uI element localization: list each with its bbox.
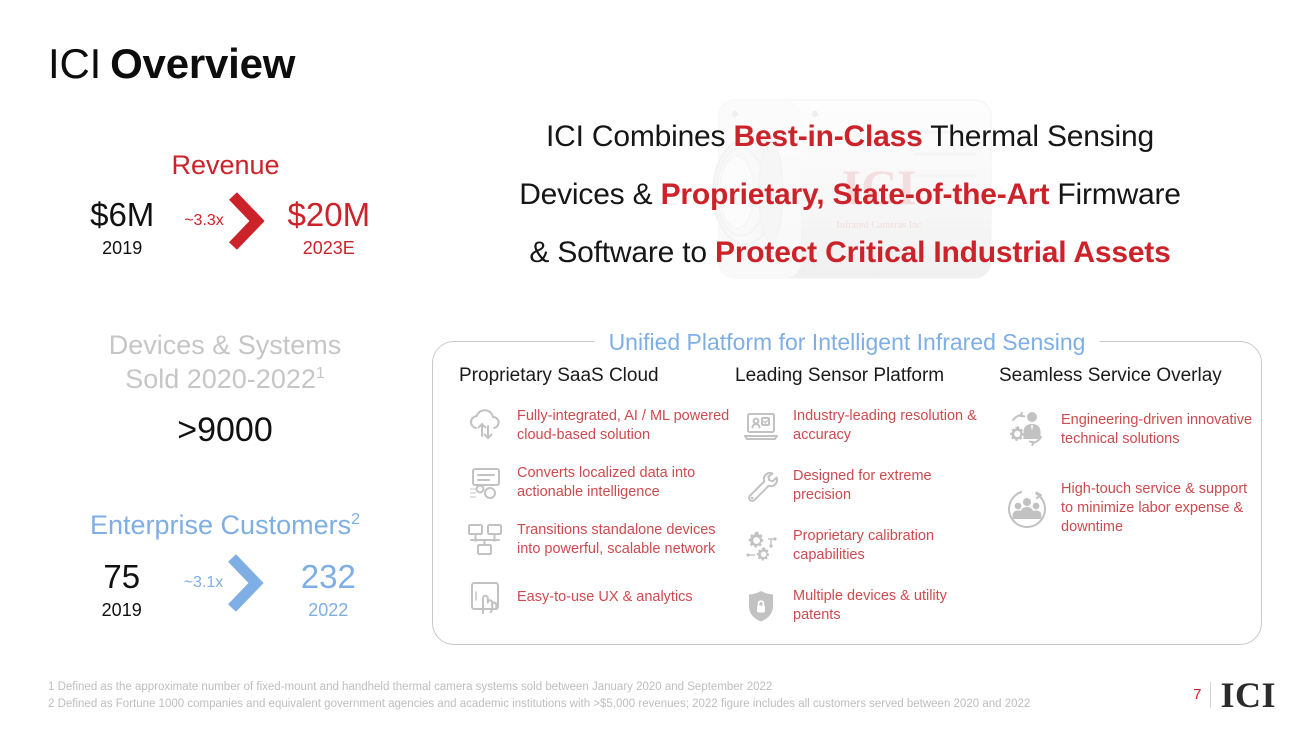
stat-row-customers: 75 2019 ~3.1x 232 2022 <box>40 552 410 628</box>
people-group-icon <box>999 481 1055 537</box>
feature-item: Designed for extreme precision <box>735 462 983 510</box>
slide-canvas: ICIOverview Revenue $6M 2019 ~3.3x $20M … <box>0 0 1300 731</box>
stat-heading-customers: Enterprise Customers2 <box>40 508 410 542</box>
platform-panel: Unified Platform for Intelligent Infrare… <box>432 341 1262 645</box>
stat-block-revenue: Revenue $6M 2019 ~3.3x $20M 2023E <box>48 148 403 266</box>
headline-line-1-pre: ICI Combines <box>546 120 733 153</box>
page-mark: 7 ICI <box>1193 677 1276 713</box>
cloud-sync-icon <box>459 402 511 450</box>
stat-from-customers: 75 2019 <box>66 557 178 623</box>
stat-to-year-customers: 2022 <box>272 597 384 623</box>
chevron-right-icon <box>225 190 267 252</box>
stat-block-customers: Enterprise Customers2 75 2019 ~3.1x 232 … <box>40 508 410 628</box>
feature-text: High-touch service & support to minimize… <box>1055 480 1263 537</box>
headline-area: ICI Infrared Cameras Inc ICI Combines Be… <box>455 100 1245 290</box>
stat-to-customers: 232 2022 <box>272 557 384 623</box>
feature-item: Engineering-driven innovative technical … <box>999 402 1263 458</box>
headline-line-2: Devices & Proprietary, State-of-the-Art … <box>455 166 1245 224</box>
feature-item: High-touch service & support to minimize… <box>999 480 1263 537</box>
feature-text: Industry-leading resolution & accuracy <box>787 407 983 445</box>
headline-line-1-highlight: Best-in-Class <box>733 120 922 153</box>
feature-text: Converts localized data into actionable … <box>511 464 733 502</box>
headline-line-2-highlight: Proprietary, State-of-the-Art <box>661 178 1050 211</box>
panel-column-sensor-platform: Leading Sensor Platform Industry-leading… <box>733 364 983 642</box>
stat-to-value-customers: 232 <box>272 557 384 597</box>
footnote-marker-1: 1 <box>316 365 325 382</box>
laptop-checklist-icon <box>735 402 787 450</box>
stat-heading-devices-line2-text: Sold 2020-2022 <box>125 364 316 394</box>
feature-text: Proprietary calibration capabilities <box>787 527 983 565</box>
stat-multiplier-revenue: ~3.3x <box>184 212 224 230</box>
headline-line-2-pre: Devices & <box>519 178 660 211</box>
footnote-marker-2: 2 <box>351 511 360 528</box>
wrench-icon <box>735 462 787 510</box>
headline-line-3-pre: & Software to <box>529 236 715 269</box>
panel-title: Unified Platform for Intelligent Infrare… <box>595 328 1100 356</box>
headline-line-3-highlight: Protect Critical Industrial Assets <box>715 236 1171 269</box>
feature-text: Multiple devices & utility patents <box>787 587 983 625</box>
network-devices-icon <box>459 516 511 564</box>
feature-text: Transitions standalone devices into powe… <box>511 521 733 559</box>
stat-to-year-revenue: 2023E <box>273 235 385 261</box>
footnote-1: 1 Defined as the approximate number of f… <box>48 679 1030 696</box>
headline-text: ICI Combines Best-in-Class Thermal Sensi… <box>455 108 1245 282</box>
column-heading: Seamless Service Overlay <box>999 364 1263 388</box>
stat-from-value-revenue: $6M <box>66 195 178 235</box>
feature-text: Easy-to-use UX & analytics <box>511 588 693 607</box>
feature-item: Transitions standalone devices into powe… <box>459 516 733 564</box>
shield-lock-icon <box>735 582 787 630</box>
headline-line-2-post: Firmware <box>1049 178 1181 211</box>
feature-text: Fully-integrated, AI / ML powered cloud-… <box>511 407 733 445</box>
feature-item: Easy-to-use UX & analytics <box>459 573 733 621</box>
stat-heading-devices-line1: Devices & Systems <box>40 328 410 362</box>
headline-line-1-post: Thermal Sensing <box>923 120 1154 153</box>
feature-text: Engineering-driven innovative technical … <box>1055 411 1263 449</box>
column-heading: Leading Sensor Platform <box>735 364 983 388</box>
panel-columns: Proprietary SaaS Cloud Fully-integrated,… <box>433 364 1263 642</box>
data-processing-icon <box>459 459 511 507</box>
stat-multiplier-customers: ~3.1x <box>184 574 224 592</box>
feature-item: Proprietary calibration capabilities <box>735 522 983 570</box>
stat-growth-revenue: ~3.3x <box>184 190 267 266</box>
feature-text: Designed for extreme precision <box>787 467 983 505</box>
stat-to-value-revenue: $20M <box>273 195 385 235</box>
headline-line-1: ICI Combines Best-in-Class Thermal Sensi… <box>455 108 1245 166</box>
page-number: 7 <box>1193 685 1201 705</box>
panel-column-service-overlay: Seamless Service Overlay <box>983 364 1263 642</box>
stat-from-revenue: $6M 2019 <box>66 195 178 261</box>
panel-column-saas-cloud: Proprietary SaaS Cloud Fully-integrated,… <box>433 364 733 642</box>
page-title: ICIOverview <box>48 38 295 90</box>
column-heading: Proprietary SaaS Cloud <box>459 364 733 388</box>
stat-to-revenue: $20M 2023E <box>273 195 385 261</box>
stat-heading-devices-line2: Sold 2020-20221 <box>40 362 410 396</box>
stat-block-devices: Devices & Systems Sold 2020-20221 >9000 <box>40 328 410 452</box>
chevron-right-icon <box>224 552 266 614</box>
headline-line-3: & Software to Protect Critical Industria… <box>455 224 1245 282</box>
feature-item: Multiple devices & utility patents <box>735 582 983 630</box>
feature-item: Industry-leading resolution & accuracy <box>735 402 983 450</box>
stat-heading-customers-text: Enterprise Customers <box>90 510 351 540</box>
person-gear-cycle-icon <box>999 402 1055 458</box>
stat-from-year-revenue: 2019 <box>66 235 178 261</box>
stat-row-revenue: $6M 2019 ~3.3x $20M 2023E <box>48 190 403 266</box>
stat-value-devices: >9000 <box>40 408 410 452</box>
stat-growth-customers: ~3.1x <box>184 552 267 628</box>
stat-from-year-customers: 2019 <box>66 597 178 623</box>
gears-network-icon <box>735 522 787 570</box>
stat-from-value-customers: 75 <box>66 557 178 597</box>
page-title-bold: Overview <box>110 40 295 87</box>
stat-heading-revenue: Revenue <box>48 148 403 182</box>
touch-tablet-icon <box>459 573 511 621</box>
page-divider <box>1210 682 1211 708</box>
feature-item: Fully-integrated, AI / ML powered cloud-… <box>459 402 733 450</box>
footnote-2: 2 Defined as Fortune 1000 companies and … <box>48 696 1030 713</box>
feature-item: Converts localized data into actionable … <box>459 459 733 507</box>
footnotes: 1 Defined as the approximate number of f… <box>48 679 1030 713</box>
page-title-light: ICI <box>48 40 101 87</box>
brand-logo: ICI <box>1220 677 1276 713</box>
